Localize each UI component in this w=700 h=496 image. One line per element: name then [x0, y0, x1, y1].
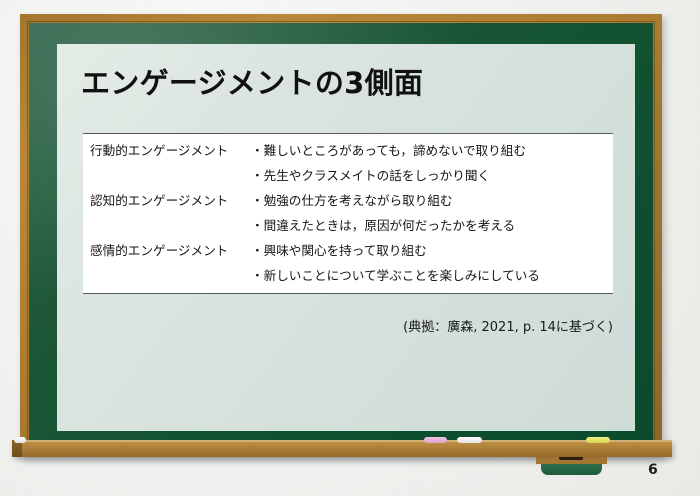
table-row: 感情的エンゲージメント ・興味や関心を持って取り組む ・新しいことについて学ぶこ… [83, 238, 613, 288]
slide-content-panel: エンゲージメントの3側面 行動的エンゲージメント ・難しいところがあっても，諦め… [57, 44, 635, 431]
list-item: ・難しいところがあっても，諦めないで取り組む [251, 138, 613, 163]
chalk-stick-yellow-icon [586, 437, 610, 443]
list-item: ・興味や関心を持って取り組む [251, 238, 613, 263]
citation-text: (典拠：廣森, 2021, p. 14に基づく) [367, 316, 613, 335]
page-number: 6 [648, 462, 658, 478]
table-row: 行動的エンゲージメント ・難しいところがあっても，諦めないで取り組む ・先生やク… [83, 138, 613, 188]
chalk-stick-white-icon [457, 437, 482, 443]
slide-canvas: エンゲージメントの3側面 行動的エンゲージメント ・難しいところがあっても，諦め… [0, 0, 700, 496]
table-row-label: 認知的エンゲージメント [83, 188, 246, 213]
list-item: ・勉強の仕方を考えながら取り組む [251, 188, 613, 213]
list-item: ・間違えたときは，原因が何だったかを考える [251, 213, 613, 238]
board-shelf-pocket [541, 464, 602, 475]
table-row-label: 行動的エンゲージメント [83, 138, 246, 163]
blackboard-surface: エンゲージメントの3側面 行動的エンゲージメント ・難しいところがあっても，諦め… [29, 23, 653, 448]
table-row-items: ・難しいところがあっても，諦めないで取り組む ・先生やクラスメイトの話をしっかり… [246, 138, 613, 188]
engagement-table: 行動的エンゲージメント ・難しいところがあっても，諦めないで取り組む ・先生やク… [83, 133, 613, 294]
chalk-stick-pink-icon [424, 437, 447, 443]
blackboard-wooden-frame: エンゲージメントの3側面 行動的エンゲージメント ・難しいところがあっても，諦め… [20, 14, 662, 457]
chalk-tray [12, 440, 672, 457]
chalk-stick-white-icon [14, 437, 26, 443]
table-row: 認知的エンゲージメント ・勉強の仕方を考えながら取り組む ・間違えたときは，原因… [83, 188, 613, 238]
list-item: ・新しいことについて学ぶことを楽しみにしている [251, 263, 613, 288]
table-row-items: ・勉強の仕方を考えながら取り組む ・間違えたときは，原因が何だったかを考える [246, 188, 613, 238]
table-row-label: 感情的エンゲージメント [83, 238, 246, 263]
list-item: ・先生やクラスメイトの話をしっかり聞く [251, 163, 613, 188]
page-title: エンゲージメントの3側面 [81, 60, 423, 102]
table-row-items: ・興味や関心を持って取り組む ・新しいことについて学ぶことを楽しみにしている [246, 238, 613, 288]
